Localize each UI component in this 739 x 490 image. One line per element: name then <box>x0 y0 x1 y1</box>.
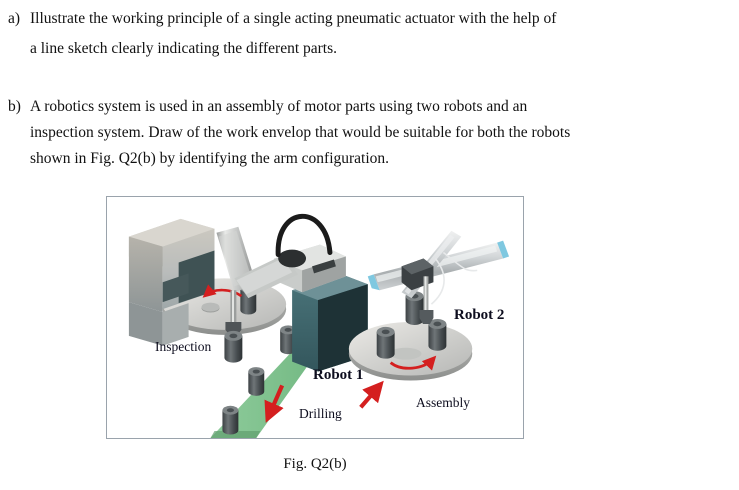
assembly-workpiece <box>377 327 395 359</box>
question-b-line-3: shown in Fig. Q2(b) by identifying the a… <box>30 146 708 172</box>
figure-caption: Fig. Q2(b) <box>106 456 524 473</box>
conveyor-workpiece <box>222 406 238 435</box>
question-b: b) A robotics system is used in an assem… <box>8 94 708 172</box>
label-assembly: Assembly <box>416 395 470 411</box>
scara-held-workpiece <box>224 331 242 363</box>
label-drilling: Drilling <box>299 406 342 422</box>
question-b-line-2: inspection system. Draw of the work enve… <box>30 120 708 146</box>
assembly-workpiece <box>428 319 446 351</box>
question-b-line-1: A robotics system is used in an assembly… <box>30 94 708 120</box>
assembly-feed-arrow <box>361 385 380 407</box>
question-a-line-1: Illustrate the working principle of a si… <box>30 4 708 34</box>
question-a-line-2: a line sketch clearly indicating the dif… <box>30 34 708 64</box>
question-b-body: A robotics system is used in an assembly… <box>30 94 708 172</box>
question-a: a) Illustrate the working principle of a… <box>8 4 708 64</box>
label-robot2: Robot 2 <box>454 307 504 324</box>
figure-q2b: Inspection Robot 1 Robot 2 Drilling Asse… <box>106 196 524 439</box>
conveyor-workpiece <box>248 367 264 396</box>
question-a-marker: a) <box>8 4 30 34</box>
question-a-body: Illustrate the working principle of a si… <box>30 4 708 64</box>
question-b-marker: b) <box>8 94 30 120</box>
label-robot1: Robot 1 <box>313 367 363 384</box>
label-inspection: Inspection <box>155 339 211 355</box>
